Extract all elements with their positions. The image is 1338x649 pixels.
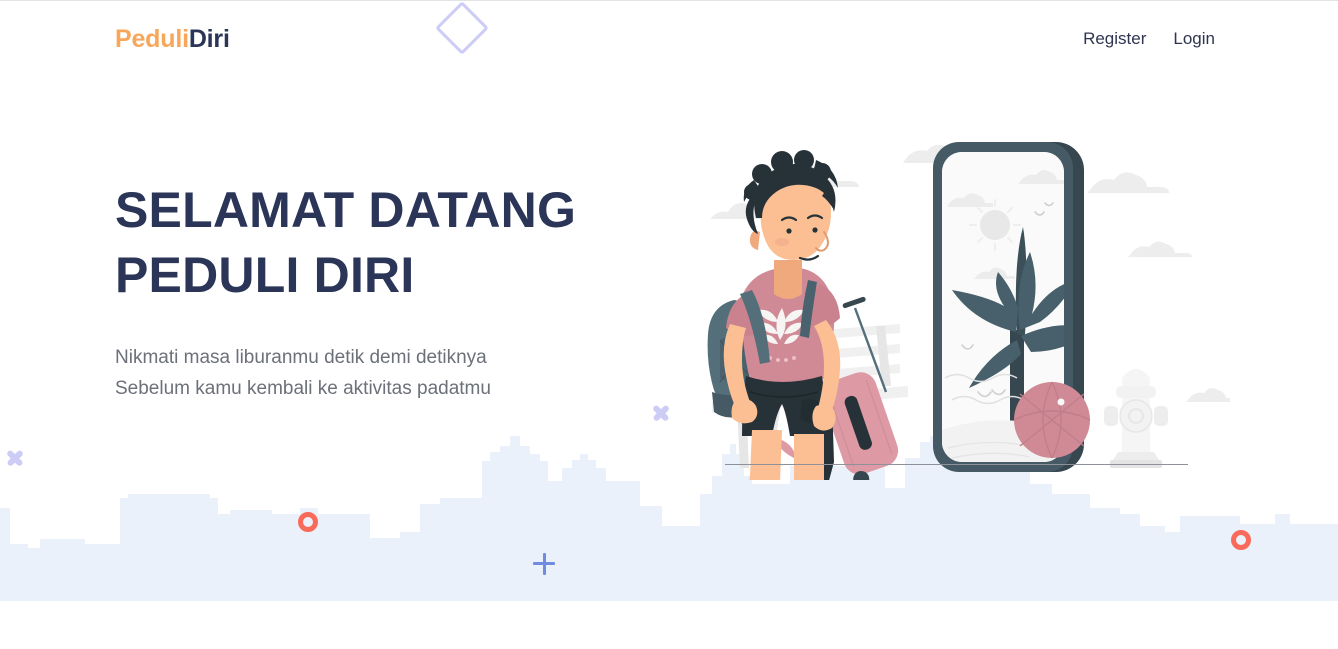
hero-text-block: SELAMAT DATANG PEDULI DIRI Nikmati masa … — [115, 178, 675, 404]
fire-hydrant-icon — [1104, 369, 1168, 468]
ring-decor-icon-right — [1231, 530, 1251, 550]
top-border — [0, 0, 1338, 1]
page-title: SELAMAT DATANG PEDULI DIRI — [115, 178, 675, 308]
plus-decor-icon — [533, 553, 555, 575]
navbar: PeduliDiri Register Login — [0, 0, 1338, 78]
traveler-illustration — [690, 100, 1230, 480]
landing-page: PeduliDiri Register Login SELAMAT DATANG… — [0, 0, 1338, 649]
hero-subtitle: Nikmati masa liburanmu detik demi detikn… — [115, 342, 675, 404]
cross-decor-icon-center — [651, 403, 670, 422]
brand-logo[interactable]: PeduliDiri — [115, 25, 230, 54]
nav-links: Register Login — [1083, 29, 1215, 49]
ground-line — [725, 464, 1188, 465]
brand-part-diri: Diri — [189, 25, 230, 53]
nav-link-login[interactable]: Login — [1173, 29, 1215, 49]
beach-ball-icon — [1014, 382, 1090, 458]
traveler-character — [708, 150, 841, 480]
brand-part-peduli: Peduli — [115, 25, 189, 53]
cross-decor-icon-left — [5, 448, 24, 467]
nav-link-register[interactable]: Register — [1083, 29, 1146, 49]
ring-decor-icon-left — [298, 512, 318, 532]
